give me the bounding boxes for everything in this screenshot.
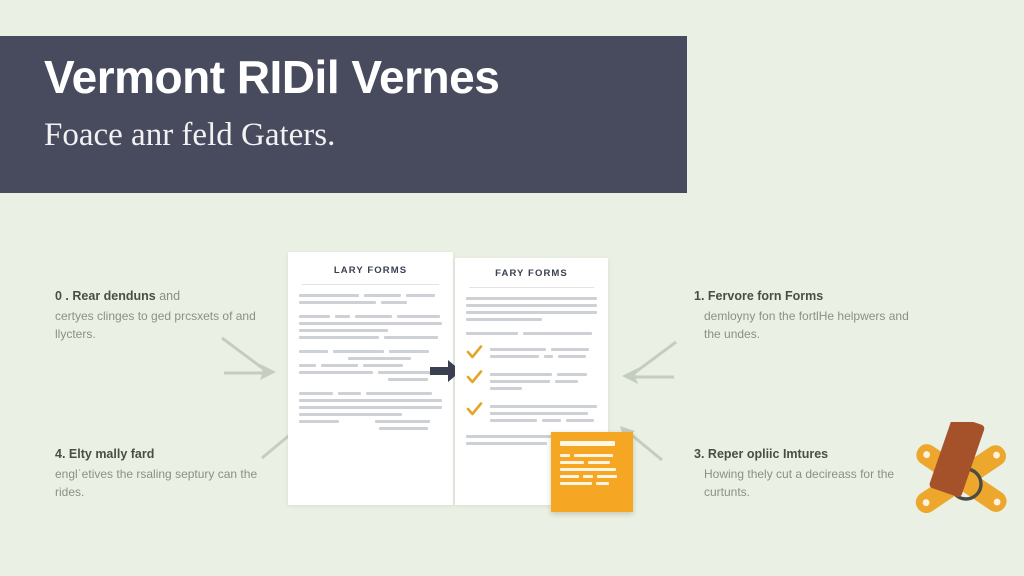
annotation-title: 1. Fervore forn Forms — [694, 288, 909, 305]
checklist-item — [466, 403, 597, 426]
annotation-body: englˈetives the rsaling septury can the … — [55, 466, 270, 502]
annotation-heading: Reper opliic Imtures — [708, 447, 828, 461]
right-page-text-lines — [455, 288, 608, 445]
page-heading-right: FARY FORMS — [455, 258, 608, 279]
left-page-text-lines — [288, 285, 453, 430]
page-title: Vermont RIDil Vernes — [44, 52, 687, 104]
annotation-heading-tail: and — [156, 289, 180, 303]
annotation-note-top-right: 1. Fervore forn Forms demloyny fon the f… — [694, 288, 909, 343]
annotation-note-bottom-right: 3. Reper opliic Imtures Howing thely cut… — [694, 446, 909, 501]
checklist-text-lines — [490, 371, 597, 394]
annotation-number: 3. — [694, 447, 704, 461]
annotation-heading: Rear denduns — [72, 289, 155, 303]
pointer-arrow-icon-top-right — [618, 340, 680, 384]
checklist-item — [466, 371, 597, 394]
checklist-item — [466, 346, 597, 362]
page-heading-left: LARY FORMS — [288, 252, 453, 276]
annotation-heading: Elty mally fard — [69, 447, 154, 461]
slide-canvas: Vermont RIDil Vernes Foace anr feld Gate… — [0, 0, 1024, 576]
annotation-body: demloyny fon the fortlHe helpwers and th… — [694, 308, 909, 344]
checklist-text-lines — [490, 346, 597, 362]
annotation-note-bottom-left: 4. Elty mally fard englˈetives the rsali… — [55, 446, 270, 501]
annotation-body: Howing thely cut a decireass for the cur… — [694, 466, 909, 502]
annotation-number: 0 . — [55, 289, 69, 303]
page-subtitle: Foace anr feld Gaters. — [44, 116, 687, 156]
annotation-heading: Fervore forn Forms — [708, 289, 823, 303]
annotation-number: 4. — [55, 447, 65, 461]
check-icon — [466, 344, 483, 361]
annotation-title: 3. Reper opliic Imtures — [694, 446, 909, 463]
check-icon — [466, 401, 483, 418]
hammer-wrench-icon — [903, 422, 1021, 537]
pointer-arrow-icon-top-left — [218, 336, 280, 380]
card-title-bar — [560, 441, 615, 446]
annotation-title: 0 . Rear denduns and — [55, 288, 270, 305]
header-banner: Vermont RIDil Vernes Foace anr feld Gate… — [0, 36, 687, 193]
annotation-title: 4. Elty mally fard — [55, 446, 270, 463]
annotation-number: 1. — [694, 289, 704, 303]
document-page-left: LARY FORMS — [288, 252, 453, 505]
orange-note-card — [551, 432, 633, 512]
check-icon — [466, 369, 483, 386]
checklist-text-lines — [490, 403, 597, 426]
